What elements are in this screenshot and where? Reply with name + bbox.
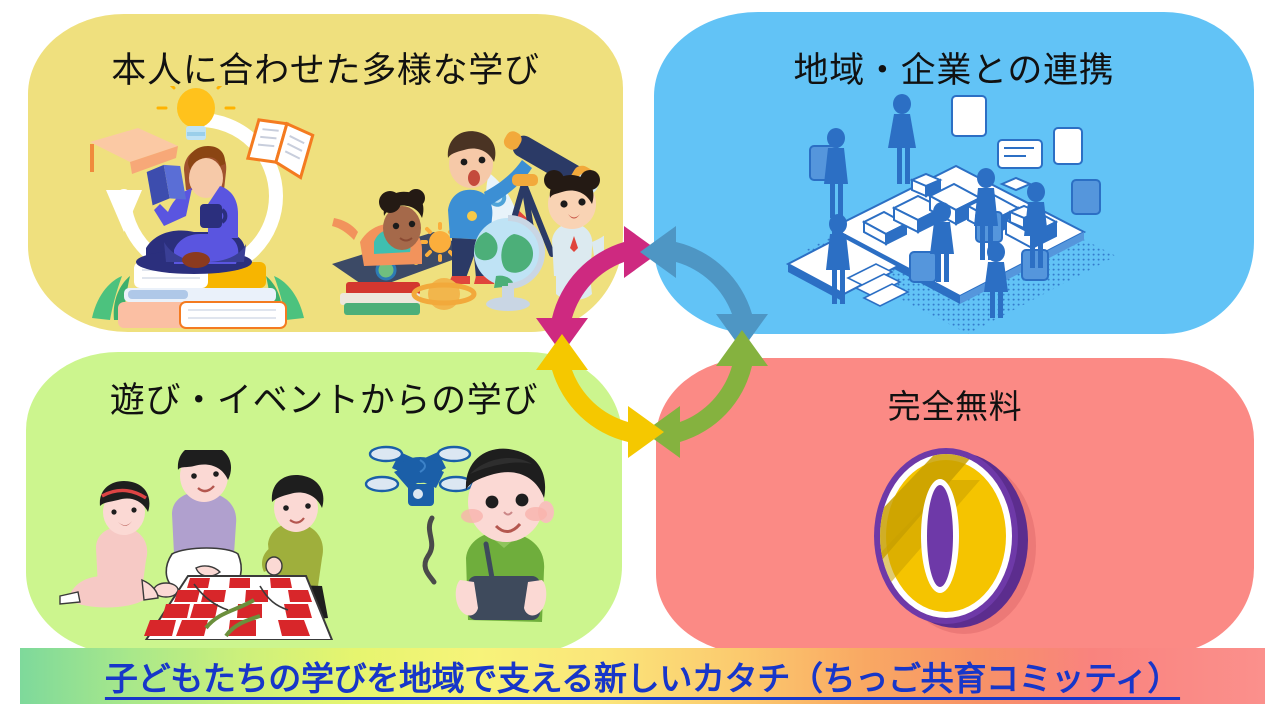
bottom-banner-text: 子どもたちの学びを地域で支える新しいカタチ（ちっご共育コミッティ） (105, 652, 1180, 700)
cycle-arrows (532, 222, 772, 462)
arrow-magenta-top-left (536, 226, 660, 354)
arrow-blue-top-right (640, 226, 768, 350)
arrow-yellow-bottom-left (536, 334, 664, 458)
person-reading-on-books-illustration (68, 86, 328, 332)
family-board-game-illustration (46, 450, 366, 640)
slide-canvas: 本人に合わせた多様な学び (0, 0, 1280, 720)
gold-zero-coin-illustration (860, 436, 1050, 646)
panel-partnership-title: 地域・企業との連携 (654, 42, 1254, 93)
isometric-business-people-network-illustration (772, 88, 1132, 334)
boy-flying-drone-illustration (350, 440, 600, 630)
arrow-green-bottom-right (644, 330, 768, 458)
bottom-banner[interactable]: 子どもたちの学びを地域で支える新しいカタチ（ちっご共育コミッティ） (20, 648, 1265, 704)
